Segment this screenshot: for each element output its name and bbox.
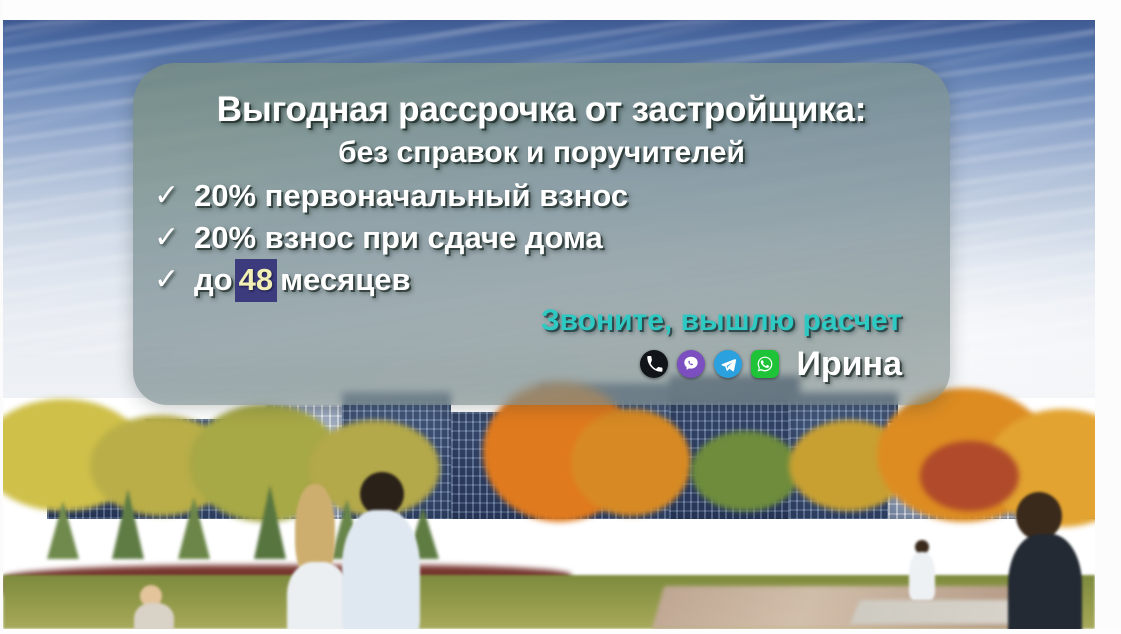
torso xyxy=(287,562,349,629)
list-item: ✓ до 48 месяцев xyxy=(151,264,950,295)
check-icon: ✓ xyxy=(151,223,194,253)
tree-foliage xyxy=(691,431,800,511)
tree-foliage xyxy=(571,409,691,516)
viber-icon[interactable] xyxy=(677,350,705,378)
list-item-label-prefix: до xyxy=(194,264,233,295)
highlighted-term-count[interactable]: 48 xyxy=(235,259,277,302)
contact-row: Ирина xyxy=(133,347,902,381)
benefits-list: ✓ 20% первоначальный взнос ✓ 20% взнос п… xyxy=(151,180,950,295)
person-child xyxy=(134,585,174,629)
whatsapp-icon[interactable] xyxy=(751,350,779,378)
frame-strip-right xyxy=(1095,20,1121,634)
person-walking xyxy=(342,472,420,629)
call-to-action-text: Звоните, вышлю расчет xyxy=(133,306,902,336)
list-item: ✓ 20% взнос при сдаче дома xyxy=(151,222,950,253)
torso xyxy=(1008,534,1082,629)
conifer-tree xyxy=(254,485,286,559)
list-item-label: 20% первоначальный взнос xyxy=(194,180,628,211)
frame-strip-bottom xyxy=(0,629,1121,634)
torso xyxy=(342,510,420,629)
list-item: ✓ 20% первоначальный взнос xyxy=(151,180,950,211)
person-walking xyxy=(287,484,349,629)
page-title: Выгодная рассрочка от застройщика: xyxy=(133,92,950,128)
advertisement-screenshot: Выгодная рассрочка от застройщика: без с… xyxy=(0,0,1121,634)
torso xyxy=(909,552,935,600)
check-icon: ✓ xyxy=(151,181,194,211)
person-distant xyxy=(909,540,935,602)
offer-card: Выгодная рассрочка от застройщика: без с… xyxy=(133,63,950,405)
conifer-tree xyxy=(47,501,79,559)
frame-strip-left xyxy=(0,0,3,634)
subtitle: без справок и поручителей xyxy=(133,138,950,169)
conifer-tree xyxy=(178,497,210,559)
list-item-label-suffix: месяцев xyxy=(280,264,410,295)
check-icon: ✓ xyxy=(151,265,194,295)
phone-icon[interactable] xyxy=(640,350,668,378)
frame-strip-top xyxy=(0,0,1121,20)
telegram-icon[interactable] xyxy=(714,350,742,378)
conifer-tree xyxy=(112,489,144,559)
head xyxy=(1016,492,1062,540)
person-foreground-right xyxy=(1008,492,1082,629)
torso xyxy=(134,603,174,629)
tree-foliage xyxy=(920,441,1018,511)
list-item-label: 20% взнос при сдаче дома xyxy=(194,222,603,253)
agent-name: Ирина xyxy=(796,347,902,381)
